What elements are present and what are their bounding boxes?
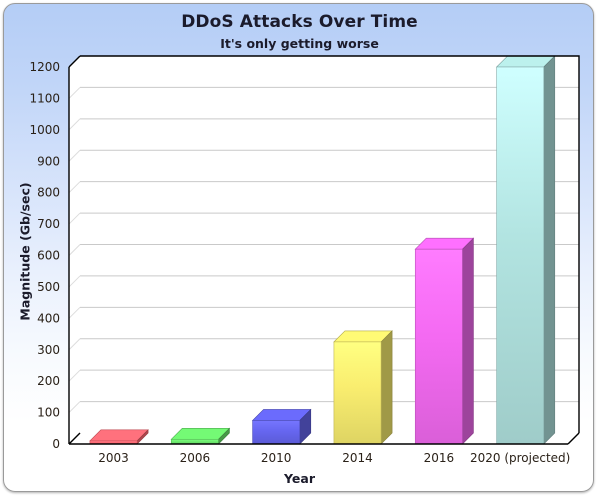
y-tick-label: 800 xyxy=(37,186,60,200)
x-tick-label: 2010 xyxy=(261,451,292,465)
x-tick-label: 2016 xyxy=(424,451,455,465)
y-tick-label: 900 xyxy=(37,154,60,168)
x-tick-label: 2003 xyxy=(98,451,129,465)
bar-2014[interactable] xyxy=(334,331,392,444)
bar-2020-projected-[interactable] xyxy=(497,56,555,444)
bar-2006[interactable] xyxy=(171,428,229,444)
y-tick-label: 400 xyxy=(37,311,60,325)
x-tick-label: 2006 xyxy=(180,451,211,465)
y-tick-label: 1100 xyxy=(29,91,60,105)
x-axis-ticks: 200320062010201420162020 (projected) xyxy=(98,451,570,465)
y-tick-label: 200 xyxy=(37,374,60,388)
plot-area: 0100200300400500600700800900100011001200… xyxy=(4,4,594,492)
y-tick-label: 600 xyxy=(37,249,60,263)
y-tick-label: 100 xyxy=(37,406,60,420)
y-tick-label: 500 xyxy=(37,280,60,294)
bar-2016[interactable] xyxy=(415,238,473,444)
y-tick-label: 1000 xyxy=(29,123,60,137)
y-axis-ticks: 0100200300400500600700800900100011001200 xyxy=(29,60,60,451)
x-tick-label: 2020 (projected) xyxy=(470,451,570,465)
chart-card: DDoS Attacks Over Time It's only getting… xyxy=(3,3,594,492)
bar-2010[interactable] xyxy=(253,409,311,444)
x-tick-label: 2014 xyxy=(342,451,373,465)
bar-2003[interactable] xyxy=(90,430,148,444)
y-tick-label: 700 xyxy=(37,217,60,231)
y-tick-label: 300 xyxy=(37,343,60,357)
y-tick-label: 1200 xyxy=(29,60,60,74)
y-tick-label: 0 xyxy=(52,437,60,451)
bar-chart-3d: 0100200300400500600700800900100011001200… xyxy=(4,4,594,492)
